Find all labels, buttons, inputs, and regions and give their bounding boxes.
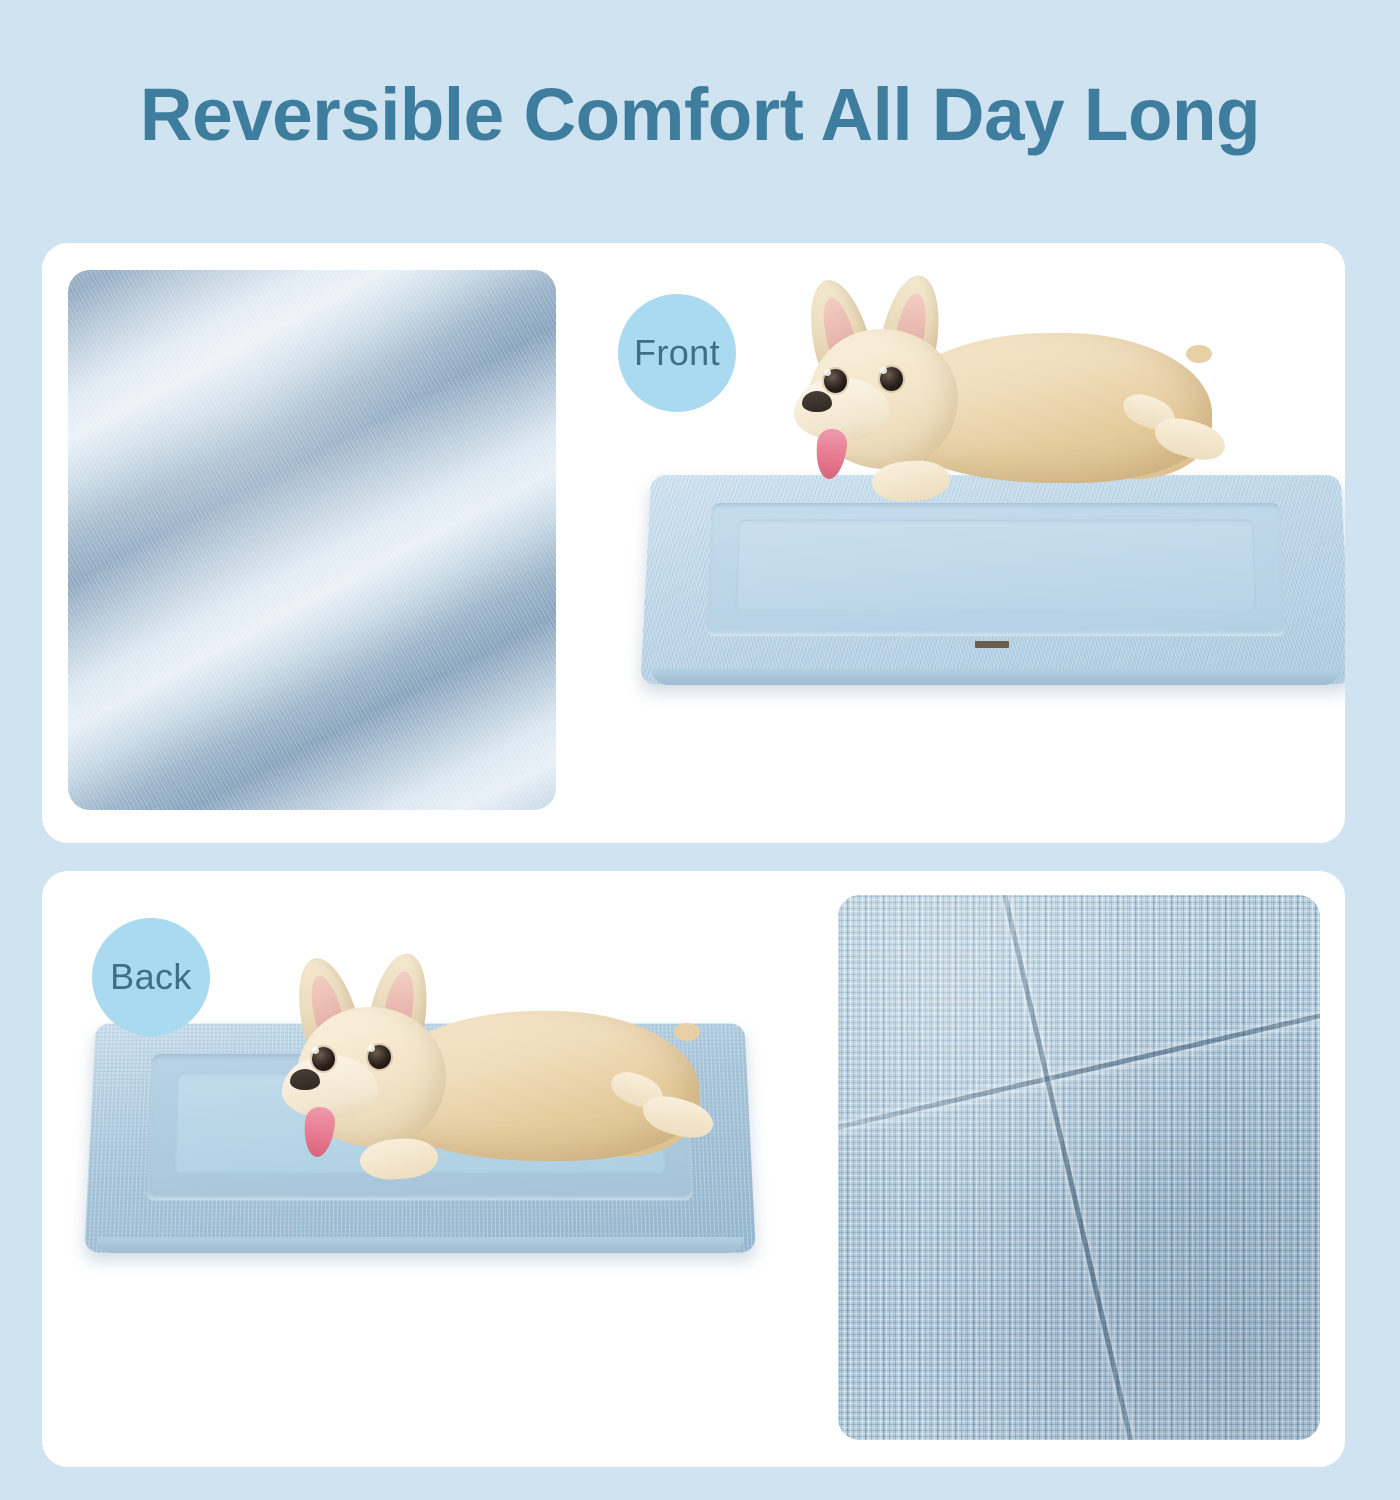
mat-front-edge-back <box>97 1237 744 1253</box>
dog-tongue <box>813 428 848 481</box>
dog-eye-left-back <box>312 1047 335 1071</box>
dog-eye-left <box>824 369 847 393</box>
brand-label-tag <box>975 641 1009 648</box>
dog-eye-glint-left <box>824 369 831 376</box>
dog-tongue-back <box>301 1106 336 1159</box>
dog-eye-right <box>880 367 903 391</box>
front-side-badge-label: Front <box>634 332 720 374</box>
dog-eye-glint-right-back <box>368 1045 375 1052</box>
mat-front-edge <box>653 669 1339 685</box>
back-side-badge-label: Back <box>110 956 192 998</box>
faux-fur-texture-photo <box>68 270 556 810</box>
french-bulldog-illustration <box>762 285 1222 535</box>
dog-tail <box>1186 345 1212 363</box>
back-side-badge: Back <box>92 918 210 1036</box>
page-title: Reversible Comfort All Day Long <box>11 78 1390 152</box>
dog-eye-glint-right <box>880 367 887 374</box>
dog-nose <box>802 391 832 412</box>
faux-linen-texture-photo <box>838 895 1320 1440</box>
fur-highlight-layer <box>68 270 556 810</box>
french-bulldog-illustration-back <box>250 963 670 1178</box>
dog-nose-back <box>290 1069 320 1090</box>
dog-tail-back <box>674 1023 700 1041</box>
front-side-badge: Front <box>618 294 736 412</box>
dog-eye-right-back <box>368 1045 391 1069</box>
back-feature-card: Textured Faux-linen Fabric: Ensures airf… <box>42 871 1345 1467</box>
linen-shading-layer <box>838 895 1320 1440</box>
dog-eye-glint-left-back <box>312 1047 319 1054</box>
